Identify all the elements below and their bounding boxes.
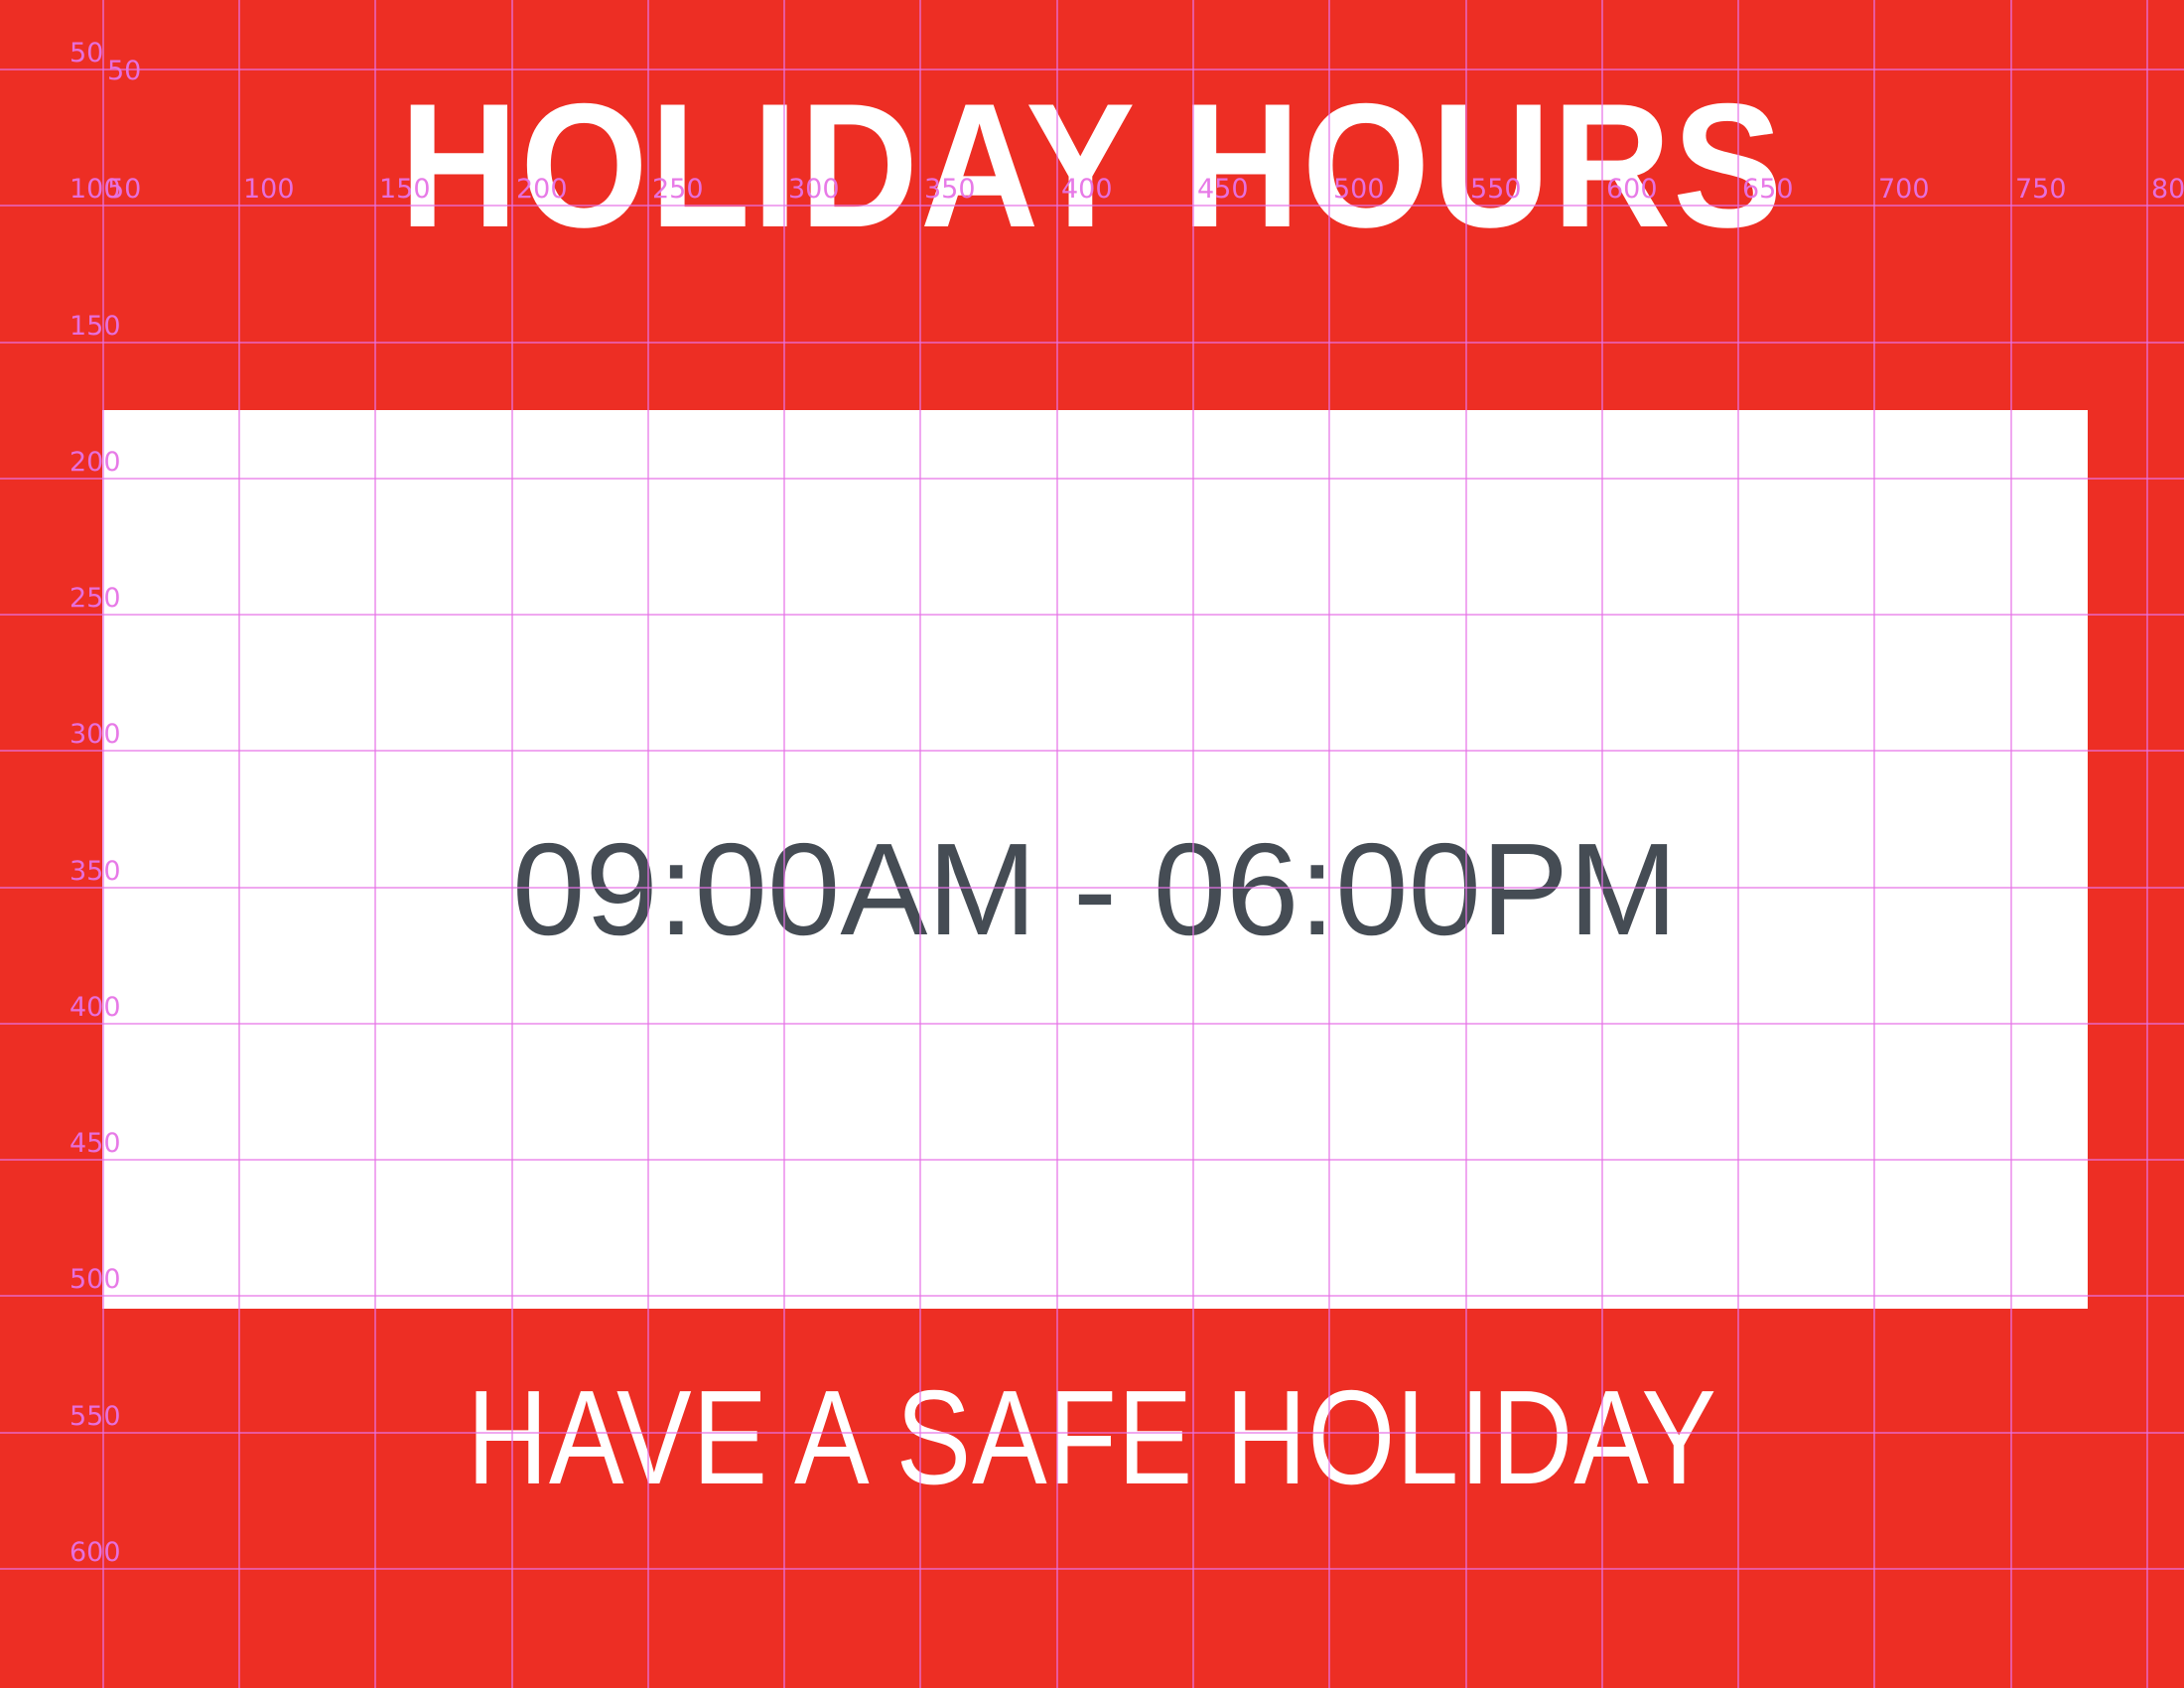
grid-x-tick-label: 800 [2151,176,2184,203]
gridline-vertical [2146,0,2148,1688]
grid-y-tick-label: 550 [69,1403,121,1430]
gridline-horizontal [0,1568,2184,1570]
holiday-hours-sign: HOLIDAY HOURS 09:00AM - 06:00PM HAVE A S… [0,0,2184,1688]
hours-text: 09:00AM - 06:00PM [102,410,2088,1309]
grid-y-tick-label: 150 [69,313,121,340]
page-title: HOLIDAY HOURS [76,77,2108,254]
gridline-horizontal [0,342,2184,344]
grid-y-tick-label: 50 [69,40,103,67]
grid-y-tick-label: 600 [69,1539,121,1566]
sign-footer-message: HAVE A SAFE HOLIDAY [175,1370,2009,1504]
